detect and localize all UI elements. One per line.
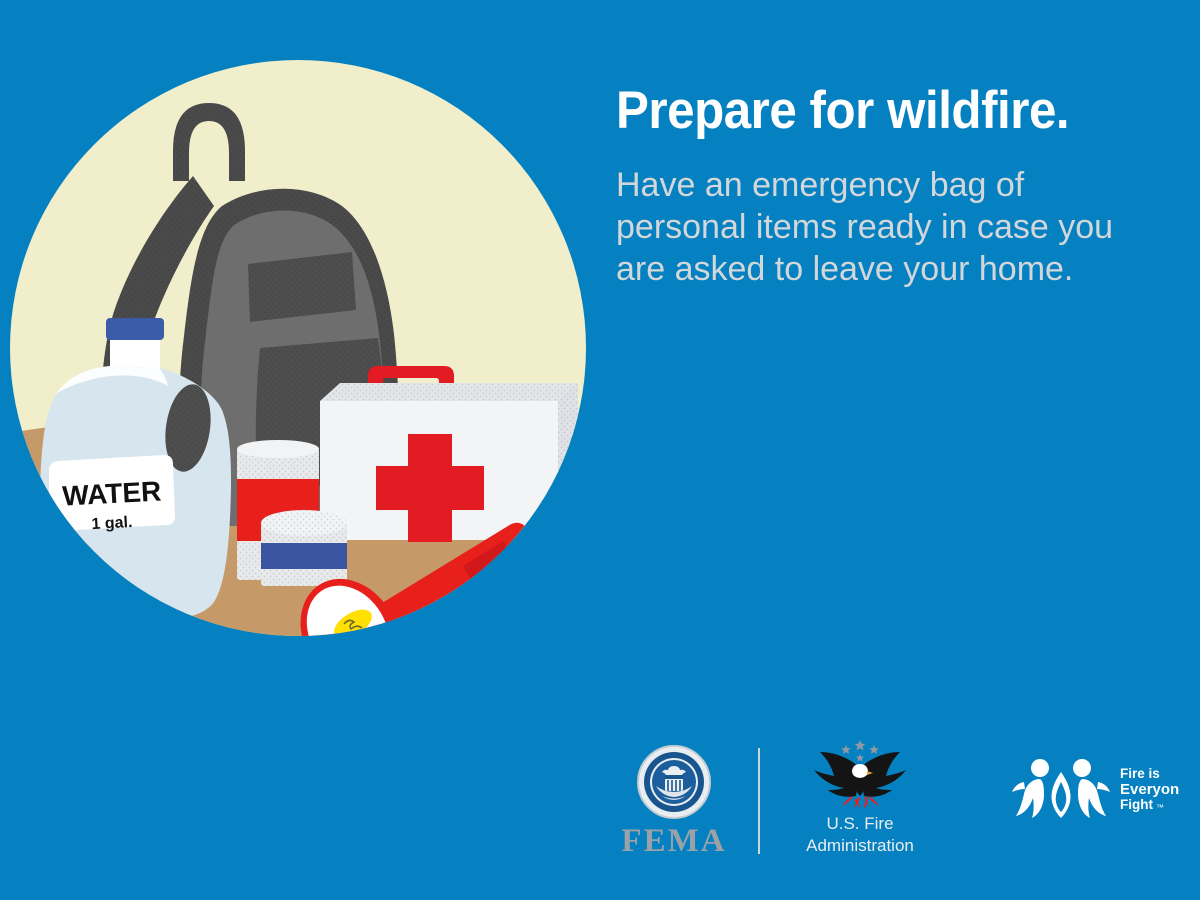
fief-line1: Fire is bbox=[1120, 766, 1160, 781]
logo-divider bbox=[758, 748, 760, 854]
first-aid-kit bbox=[320, 366, 578, 542]
fief-line3: Fight bbox=[1120, 797, 1153, 812]
water-jug-label: WATER 1 gal. bbox=[49, 455, 175, 533]
usfa-logo: U.S. Fire Administration bbox=[790, 738, 930, 856]
water-label-line2: 1 gal. bbox=[91, 514, 133, 533]
message-block: Prepare for wildfire. Have an emergency … bbox=[616, 82, 1166, 290]
water-label-line1: WATER bbox=[62, 475, 163, 511]
page-title: Prepare for wildfire. bbox=[616, 82, 1128, 140]
usfa-wordmark-line1: U.S. Fire bbox=[790, 814, 930, 834]
usfa-wordmark-line2: Administration bbox=[790, 836, 930, 856]
emergency-supply-kit-illustration: WATER 1 gal. bbox=[8, 56, 588, 640]
illustration-svg: WATER 1 gal. bbox=[8, 56, 588, 640]
footer-logo-bar: FEMA bbox=[600, 738, 1180, 868]
water-jug-cap bbox=[106, 318, 164, 340]
fire-is-everyones-fight-logo: Fire is Everyone's Fight ™ bbox=[1010, 752, 1180, 822]
fief-line2: Everyone's bbox=[1120, 781, 1180, 798]
fema-wordmark: FEMA bbox=[618, 824, 730, 858]
jar bbox=[261, 510, 347, 586]
page-subtitle: Have an emergency bag of personal items … bbox=[616, 140, 1161, 290]
poster-canvas: WATER 1 gal. Prepare for wildfire. Have … bbox=[0, 0, 1200, 900]
fief-mark-icon: Fire is Everyone's Fight ™ bbox=[1010, 752, 1180, 822]
dhs-seal-icon bbox=[636, 744, 712, 820]
fief-trademark: ™ bbox=[1156, 803, 1164, 812]
usfa-eagle-icon bbox=[814, 738, 906, 812]
fema-logo: FEMA bbox=[618, 744, 730, 858]
